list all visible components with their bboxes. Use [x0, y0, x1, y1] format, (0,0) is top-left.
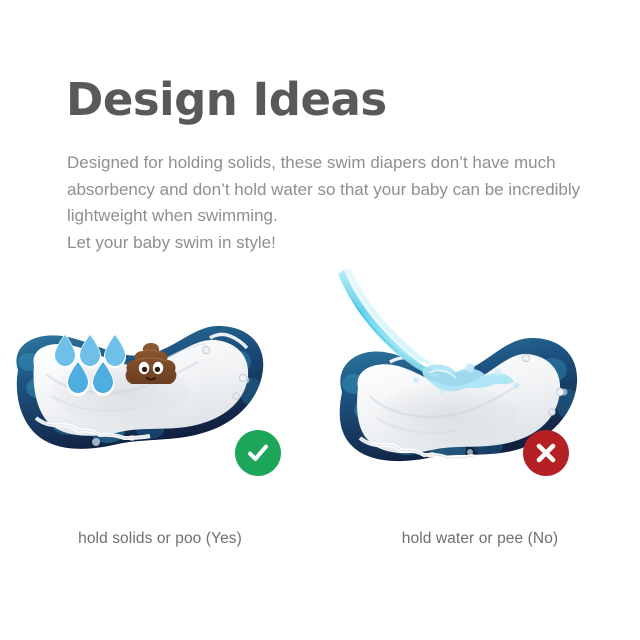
status-badge-yes — [235, 430, 281, 476]
water-droplet-icon — [104, 334, 126, 368]
water-stream-icon — [320, 262, 580, 447]
intro-paragraph: Designed for holding solids, these swim … — [67, 150, 597, 256]
panel-water: hold water or pee (No) — [320, 262, 640, 572]
panel-solids: hold solids or poo (Yes) — [0, 262, 320, 572]
water-droplet-icon — [54, 334, 76, 368]
water-splash-icon — [413, 364, 519, 396]
cross-icon — [534, 441, 558, 465]
panel-solids-caption: hold solids or poo (Yes) — [0, 530, 320, 548]
panel-water-caption: hold water or pee (No) — [320, 530, 640, 548]
page-title: Design Ideas — [66, 74, 387, 126]
check-icon — [245, 440, 271, 466]
poo-emoji-icon — [124, 340, 178, 395]
comparison-section: hold solids or poo (Yes) — [0, 262, 640, 572]
panel-solids-stage — [0, 262, 320, 517]
panel-water-stage — [320, 262, 640, 517]
status-badge-no — [523, 430, 569, 476]
water-droplet-icon — [79, 334, 101, 368]
